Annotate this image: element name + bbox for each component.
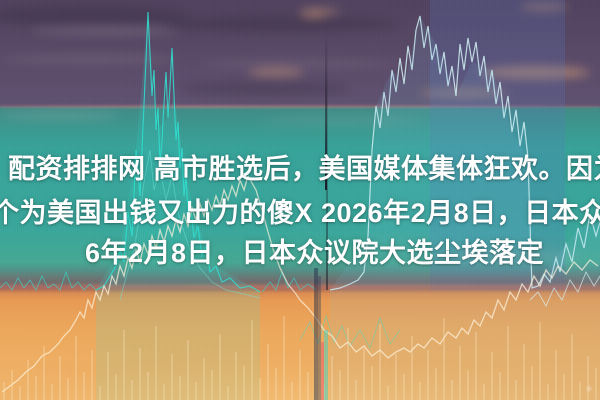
chart-accent-strips [314, 268, 328, 400]
lower-stock-chart [0, 0, 600, 400]
corner-watermark: ◈ [586, 384, 593, 394]
thumbnail-image: 配资排排网 高市胜选后，美国媒体集体狂欢。因为 个为美国出钱又出力的傻X 202… [0, 0, 600, 400]
volume-bars [4, 316, 596, 400]
